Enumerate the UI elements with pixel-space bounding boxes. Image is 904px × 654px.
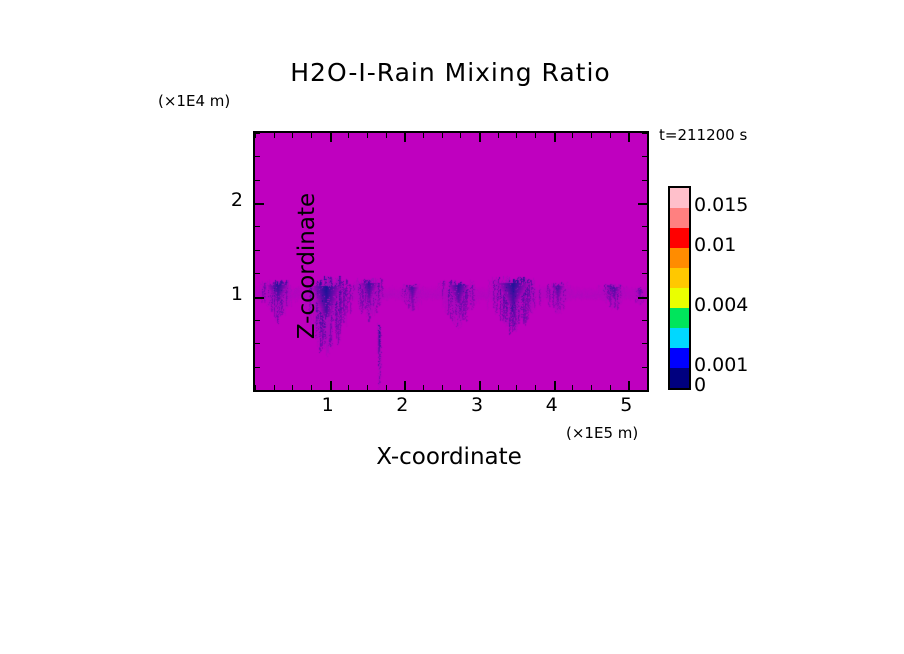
colorbar [668, 186, 691, 390]
tick-mark [255, 390, 260, 391]
colorbar-label: 0.01 [694, 234, 736, 256]
tick-mark [367, 133, 368, 138]
colorbar-band [670, 348, 689, 368]
tick-mark [642, 273, 647, 274]
tick-mark [330, 133, 332, 142]
tick-mark [292, 385, 293, 390]
tick-mark [516, 133, 517, 138]
tick-mark [642, 226, 647, 227]
tick-mark [386, 133, 387, 138]
y-axis-unit-label: (×1E4 m) [158, 92, 230, 110]
tick-mark [460, 385, 461, 390]
tick-mark [638, 203, 647, 205]
tick-mark [255, 273, 260, 274]
tick-mark [255, 250, 260, 251]
tick-mark [498, 133, 499, 138]
y-axis-title: Z-coordinate [294, 136, 320, 396]
tick-mark [367, 385, 368, 390]
colorbar-band [670, 268, 689, 288]
colorbar-band [670, 368, 689, 388]
y-tick-label: 1 [213, 283, 243, 305]
tick-mark [255, 320, 260, 321]
tick-mark [642, 343, 647, 344]
tick-mark [274, 385, 275, 390]
tick-mark [348, 133, 349, 138]
colorbar-band [670, 288, 689, 308]
tick-mark [610, 133, 611, 138]
tick-mark [255, 203, 264, 205]
colorbar-band [670, 248, 689, 268]
tick-mark [516, 385, 517, 390]
x-tick-label: 4 [532, 394, 572, 416]
tick-mark [479, 133, 481, 142]
tick-mark [386, 385, 387, 390]
tick-mark [255, 156, 260, 157]
time-annotation: t=211200 s [659, 126, 747, 144]
tick-mark [255, 226, 260, 227]
figure-canvas: H2O-I-Rain Mixing Ratio (×1E4 m) (×1E5 m… [0, 0, 904, 654]
page-title: H2O-I-Rain Mixing Ratio [253, 58, 648, 87]
tick-mark [498, 385, 499, 390]
tick-mark [591, 133, 592, 138]
tick-mark [255, 133, 260, 134]
tick-mark [348, 385, 349, 390]
colorbar-band [670, 308, 689, 328]
tick-mark [535, 385, 536, 390]
tick-mark [554, 381, 556, 390]
colorbar-band [670, 228, 689, 248]
tick-mark [274, 133, 275, 138]
x-tick-label: 3 [457, 394, 497, 416]
tick-mark [642, 250, 647, 251]
tick-mark [591, 385, 592, 390]
tick-mark [642, 133, 647, 134]
tick-mark [442, 133, 443, 138]
tick-mark [628, 133, 630, 142]
colorbar-label: 0.015 [694, 194, 748, 216]
tick-mark [642, 180, 647, 181]
tick-mark [330, 381, 332, 390]
tick-mark [610, 385, 611, 390]
x-tick-label: 1 [308, 394, 348, 416]
colorbar-band [670, 188, 689, 208]
x-tick-label: 5 [606, 394, 646, 416]
tick-mark [642, 367, 647, 368]
tick-mark [460, 133, 461, 138]
tick-mark [423, 133, 424, 138]
tick-mark [642, 156, 647, 157]
tick-mark [442, 385, 443, 390]
tick-mark [642, 320, 647, 321]
colorbar-band [670, 208, 689, 228]
tick-mark [628, 381, 630, 390]
tick-mark [423, 385, 424, 390]
colorbar-label: 0.001 [694, 354, 748, 376]
tick-mark [642, 390, 647, 391]
tick-mark [255, 180, 260, 181]
tick-mark [638, 297, 647, 299]
tick-mark [535, 133, 536, 138]
tick-mark [255, 367, 260, 368]
tick-mark [647, 133, 648, 138]
tick-mark [255, 297, 264, 299]
tick-mark [572, 133, 573, 138]
colorbar-label: 0.004 [694, 294, 748, 316]
x-axis-title: X-coordinate [253, 444, 645, 470]
tick-mark [572, 385, 573, 390]
colorbar-label: 0 [694, 374, 706, 396]
tick-mark [479, 381, 481, 390]
plot-area: Z-coordinate [253, 131, 649, 392]
x-axis-unit-label: (×1E5 m) [566, 424, 638, 442]
x-tick-label: 2 [382, 394, 422, 416]
tick-mark [255, 343, 260, 344]
colorbar-band [670, 328, 689, 348]
y-tick-label: 2 [213, 189, 243, 211]
tick-mark [554, 133, 556, 142]
tick-mark [292, 133, 293, 138]
tick-mark [404, 133, 406, 142]
tick-mark [647, 385, 648, 390]
tick-mark [404, 381, 406, 390]
